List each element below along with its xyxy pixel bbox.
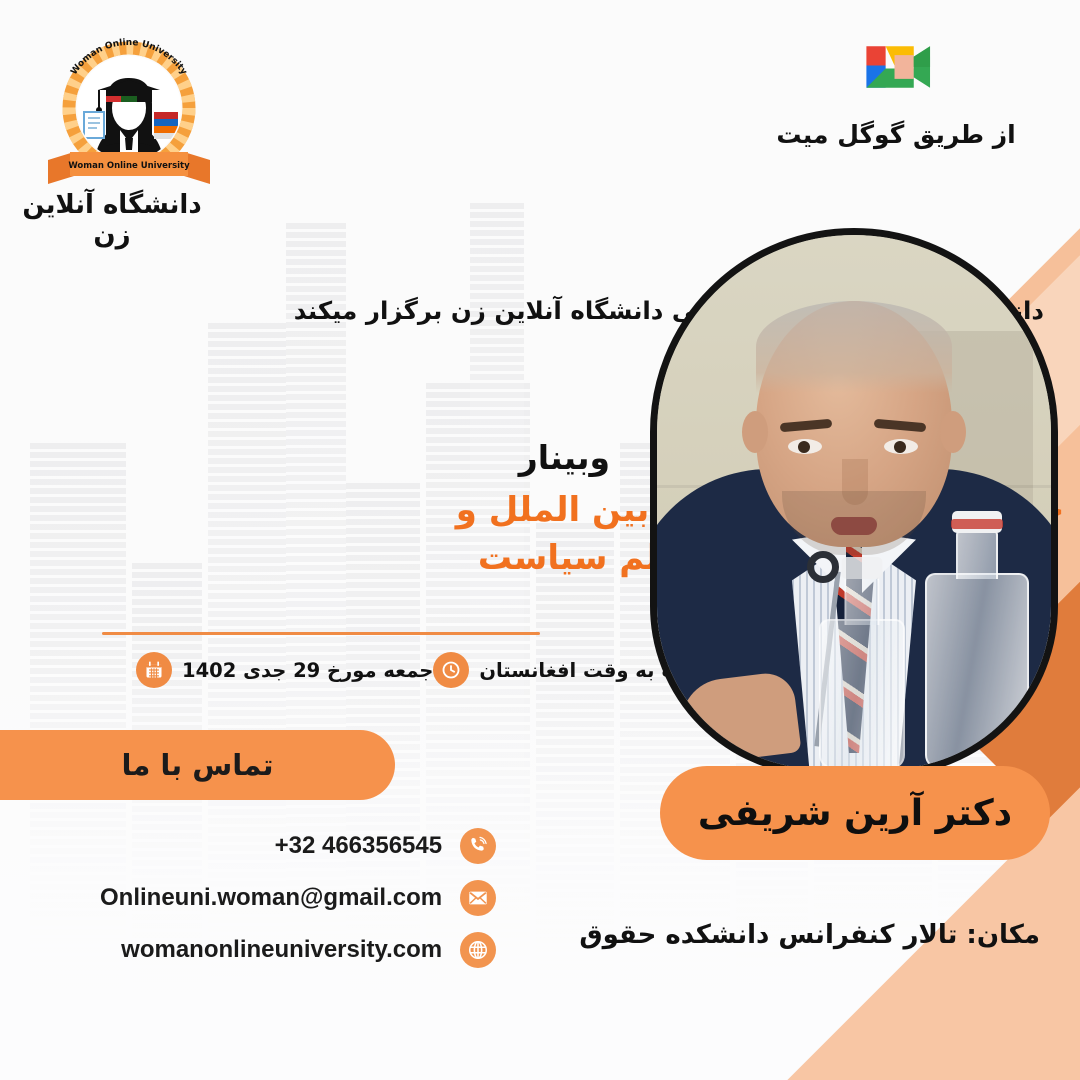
speaker-photo: [650, 228, 1058, 776]
contact-row-website[interactable]: womanonlineuniversity.com: [100, 924, 496, 976]
contact-phone-value: +32 466356545: [275, 832, 443, 860]
university-name: دانشگاه آنلاین زن: [0, 190, 224, 250]
platform-label: از طریق گوگل میت: [746, 120, 1046, 149]
speaker-name: دکتر آرین شریفی: [698, 793, 1012, 834]
webinar-kicker: وبینار: [519, 438, 610, 477]
webinar-poster: Woman Online University Woman Online Uni…: [0, 0, 1080, 1080]
platform-block: از طریق گوگل میت: [746, 30, 1046, 149]
svg-text:Woman Online University: Woman Online University: [68, 161, 190, 171]
email-icon: [460, 880, 496, 916]
section-divider: [102, 632, 540, 635]
contact-row-email[interactable]: Onlineuni.woman@gmail.com: [100, 872, 496, 924]
contact-heading-pill: تماس با ما: [0, 730, 395, 800]
contact-list: +32 466356545 Onlineuni.woman@gmail.com: [100, 820, 496, 976]
contact-website-value: womanonlineuniversity.com: [121, 936, 442, 964]
speaker-name-pill: دکتر آرین شریفی: [660, 766, 1050, 860]
schedule-date-text: جمعه مورخ 29 جدی 1402: [182, 659, 433, 682]
clock-icon: [433, 652, 469, 688]
venue-text: مکان: تالار کنفرانس دانشکده حقوق: [579, 920, 1040, 950]
google-meet-icon: [851, 30, 941, 104]
contact-row-phone[interactable]: +32 466356545: [100, 820, 496, 872]
schedule-row: جمعه مورخ 29 جدی 1402 07:00 شب به وقت اف…: [100, 648, 646, 692]
contact-email-value: Onlineuni.woman@gmail.com: [100, 884, 442, 912]
contact-heading-label: تماس با ما: [121, 748, 273, 782]
globe-icon: [460, 932, 496, 968]
calendar-icon: [136, 652, 172, 688]
university-logo: Woman Online University Woman Online Uni…: [40, 34, 218, 186]
phone-icon: [460, 828, 496, 864]
schedule-date: جمعه مورخ 29 جدی 1402: [136, 652, 433, 688]
